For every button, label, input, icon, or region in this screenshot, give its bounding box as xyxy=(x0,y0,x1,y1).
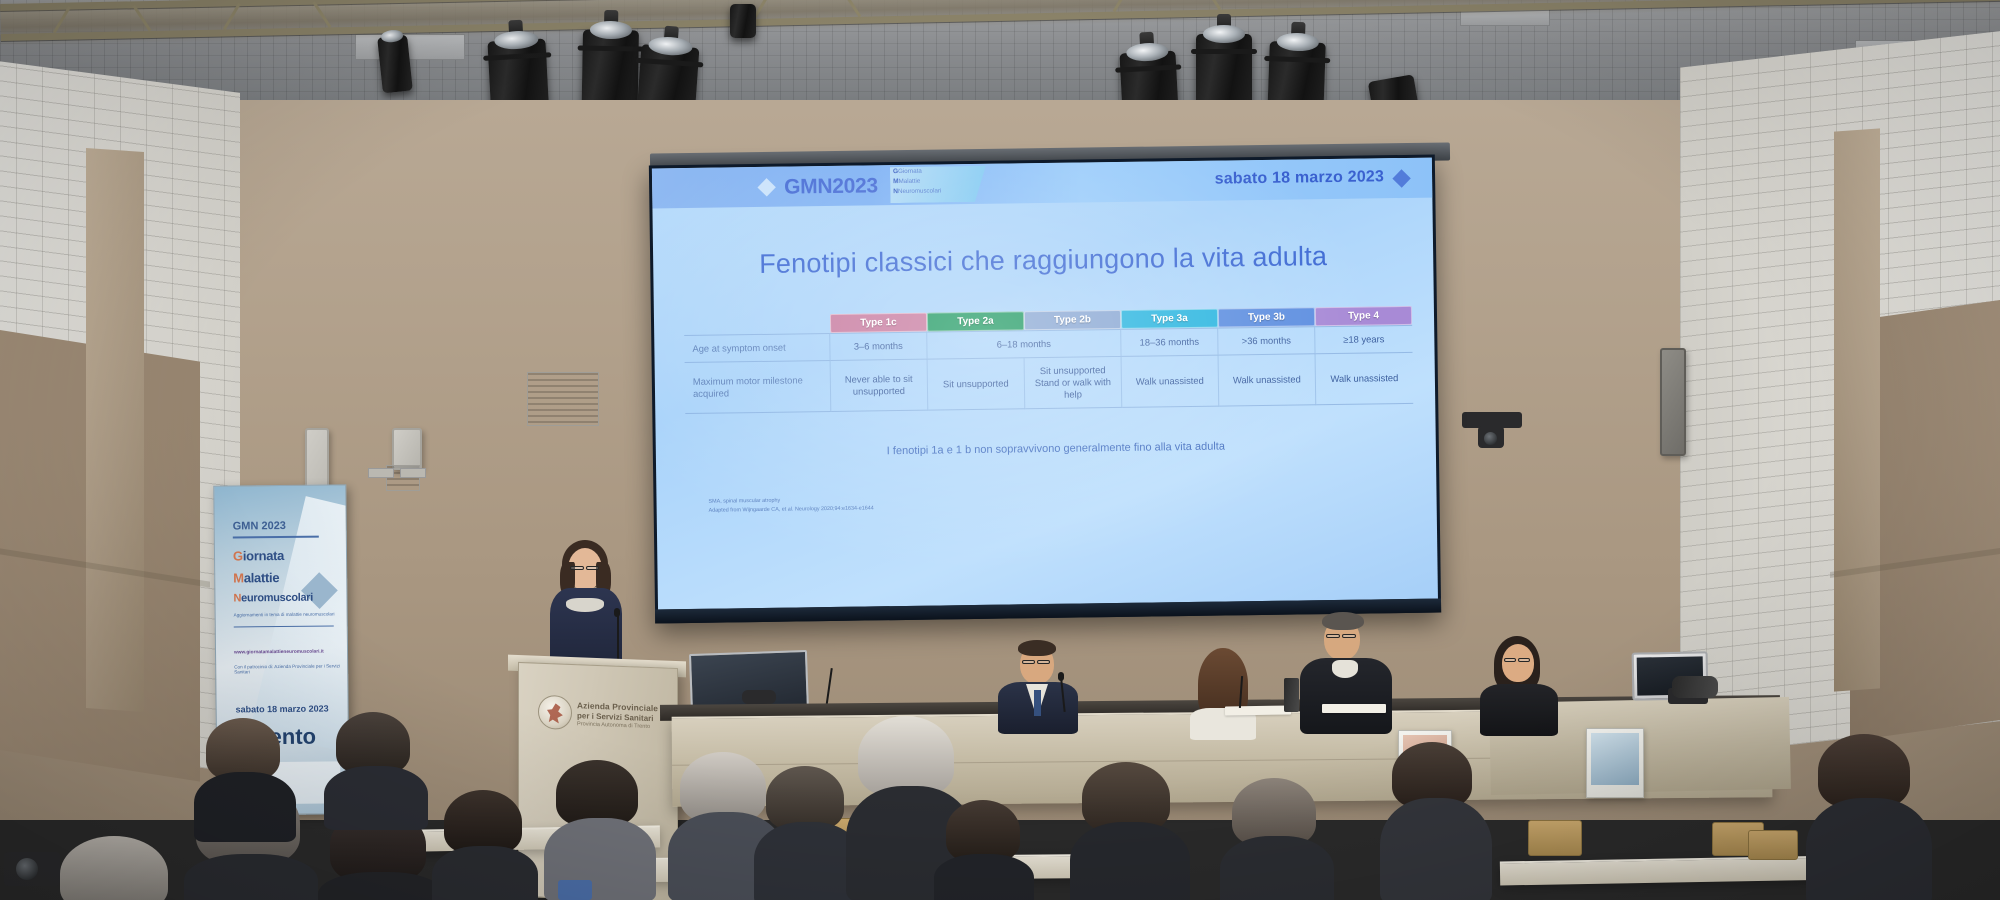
podium-sign: Azienda Provinciale per i Servizi Sanita… xyxy=(534,686,662,743)
banner-rest-3: euromuscolari xyxy=(241,592,313,605)
presenter-collar xyxy=(566,598,604,612)
projected-slide: GMN2023 GGiornata MMalattie NNeuromuscol… xyxy=(652,158,1438,610)
tagline-line1: Giornata xyxy=(898,168,922,175)
audience-member xyxy=(1392,742,1488,900)
stage-spotlight xyxy=(730,4,756,38)
podium-device xyxy=(742,690,776,704)
panelist-4 xyxy=(1480,636,1566,732)
audience-member xyxy=(1232,778,1332,900)
panelist-3-collar xyxy=(1332,660,1358,678)
panelist-3 xyxy=(1300,612,1396,732)
cell-motor-2b: Sit unsupported Stand or walk with help xyxy=(1024,357,1122,409)
panelist-1 xyxy=(1000,640,1086,730)
column-header-type-1c: Type 1c xyxy=(830,313,927,333)
phenotype-table: Type 1c Type 2a Type 2b Type 3a Type 3b … xyxy=(684,306,1413,414)
conference-room-scene: GMN2023 GGiornata MMalattie NNeuromuscol… xyxy=(0,0,2000,900)
panelist-4-torso xyxy=(1480,684,1558,736)
slide-logo-tagline: GGiornata MMalattie NNeuromuscolari xyxy=(890,166,986,203)
cell-age-2a-2b: 6–18 months xyxy=(927,329,1121,360)
column-header-type-2b: Type 2b xyxy=(1024,310,1121,330)
audience-chair[interactable] xyxy=(1748,830,1798,860)
panelist-3-hair xyxy=(1322,612,1364,630)
panelist-4-glasses xyxy=(1518,658,1530,662)
province-emblem-icon xyxy=(538,695,572,730)
panelist-1-glasses xyxy=(1022,660,1035,664)
wall-speaker xyxy=(392,428,422,470)
banner-line-giornata: Giornata xyxy=(233,548,284,564)
wall-vent xyxy=(527,372,599,426)
cell-age-1c: 3–6 months xyxy=(830,332,927,361)
column-header-type-2a: Type 2a xyxy=(927,311,1024,331)
cell-motor-3a: Walk unassisted xyxy=(1121,356,1219,408)
panelist-3-glasses xyxy=(1342,634,1356,638)
cell-age-4: ≥18 years xyxy=(1315,325,1412,354)
panelist-1-hair xyxy=(1018,640,1056,656)
column-header-type-3a: Type 3a xyxy=(1121,309,1218,329)
slide-date: sabato 18 marzo 2023 xyxy=(1215,168,1385,188)
banner-line-neuromuscolari: Neuromuscolari xyxy=(233,592,313,605)
left-pillar xyxy=(86,148,144,712)
cell-motor-3b: Walk unassisted xyxy=(1219,354,1317,406)
presenter-glasses xyxy=(586,566,599,570)
slide-citation: SMA, spinal muscular atrophy Adapted fro… xyxy=(708,495,873,516)
microphone-icon xyxy=(1058,672,1064,681)
audience-member xyxy=(444,790,536,900)
citation-line-2: Adapted from Wijngaarde CA, et al. Neuro… xyxy=(709,505,874,516)
column-header-type-4: Type 4 xyxy=(1315,306,1412,326)
wall-speaker xyxy=(1660,348,1686,456)
camera-lens-icon xyxy=(16,858,38,880)
banner-rest-1: iornata xyxy=(243,548,284,563)
audience-member xyxy=(946,800,1032,900)
slide-header-band: GMN2023 GGiornata MMalattie NNeuromuscol… xyxy=(652,158,1432,209)
slide-footnote: I fenotipi 1a e 1 b non sopravvivono gen… xyxy=(716,438,1396,459)
audience-member xyxy=(336,712,428,822)
banner-cap-n: N xyxy=(233,592,241,604)
audience-member xyxy=(556,760,654,900)
phone-device xyxy=(558,880,592,900)
wall-plate xyxy=(368,468,394,478)
panelist-4-head xyxy=(1502,644,1534,682)
desk-poster xyxy=(1586,728,1644,798)
banner-line-malattie: Malattie xyxy=(233,570,279,585)
cell-motor-2a: Sit unsupported xyxy=(927,358,1025,410)
panelist-3-glasses xyxy=(1326,634,1340,638)
podium-text: Azienda Provinciale per i Servizi Sanita… xyxy=(577,700,658,730)
slide-logo: GMN2023 xyxy=(784,174,878,199)
projection-screen-frame: GMN2023 GGiornata MMalattie NNeuromuscol… xyxy=(649,155,1441,624)
slide-title: Fenotipi classici che raggiungono la vit… xyxy=(653,240,1433,282)
desk-equipment xyxy=(1672,676,1718,698)
row-label-motor-milestone: Maximum motor milestone acquired xyxy=(685,361,832,414)
desk-paper xyxy=(1225,705,1291,715)
audience-member xyxy=(1082,762,1186,900)
tagline-line3: Neuromuscolari xyxy=(898,187,941,195)
banner-title: GMN 2023 xyxy=(233,520,286,533)
column-header-type-3b: Type 3b xyxy=(1218,307,1315,327)
cell-motor-1c: Never able to sit unsupported xyxy=(830,360,928,412)
row-label-age-onset: Age at symptom onset xyxy=(684,333,830,363)
camera-lens-icon xyxy=(1484,432,1497,445)
banner-date: sabato 18 marzo 2023 xyxy=(217,703,348,714)
audience-chair[interactable] xyxy=(1528,820,1582,856)
banner-cap-g: G xyxy=(233,548,243,563)
cell-age-3a: 18–36 months xyxy=(1121,328,1218,357)
right-pillar xyxy=(1834,128,1880,691)
table-row-motor-milestone: Maximum motor milestone acquired Never a… xyxy=(685,353,1414,414)
banner-credits: Con il patrocinio di: Azienda Provincial… xyxy=(234,663,344,674)
presenter-glasses xyxy=(570,566,584,570)
tagline-line2: Malattie xyxy=(899,178,921,185)
cell-motor-4: Walk unassisted xyxy=(1316,353,1414,405)
desk-paper xyxy=(1322,704,1386,713)
audience-member xyxy=(1818,734,1928,900)
banner-rest-2: alattie xyxy=(244,570,280,585)
diamond-icon xyxy=(1392,169,1410,187)
audience-member xyxy=(766,766,858,900)
diamond-icon xyxy=(757,178,775,196)
panelist-1-tie xyxy=(1034,690,1041,716)
microphone-icon xyxy=(614,608,620,617)
stage-spotlight xyxy=(377,35,413,94)
banner-cap-m: M xyxy=(233,570,244,585)
wall-plate xyxy=(400,468,426,478)
panelist-2 xyxy=(1188,648,1264,734)
banner-url: www.giornatamalattieneuromuscolari.it xyxy=(234,650,324,656)
audience-member xyxy=(206,718,292,838)
audience-member xyxy=(60,836,180,900)
banner-subtitle: Aggiornamenti in tema di malattie neurom… xyxy=(234,611,335,617)
panelist-1-glasses xyxy=(1037,660,1050,664)
panelist-4-glasses xyxy=(1504,658,1516,662)
cell-age-3b: >36 months xyxy=(1218,326,1315,355)
water-bottle xyxy=(1284,678,1299,712)
